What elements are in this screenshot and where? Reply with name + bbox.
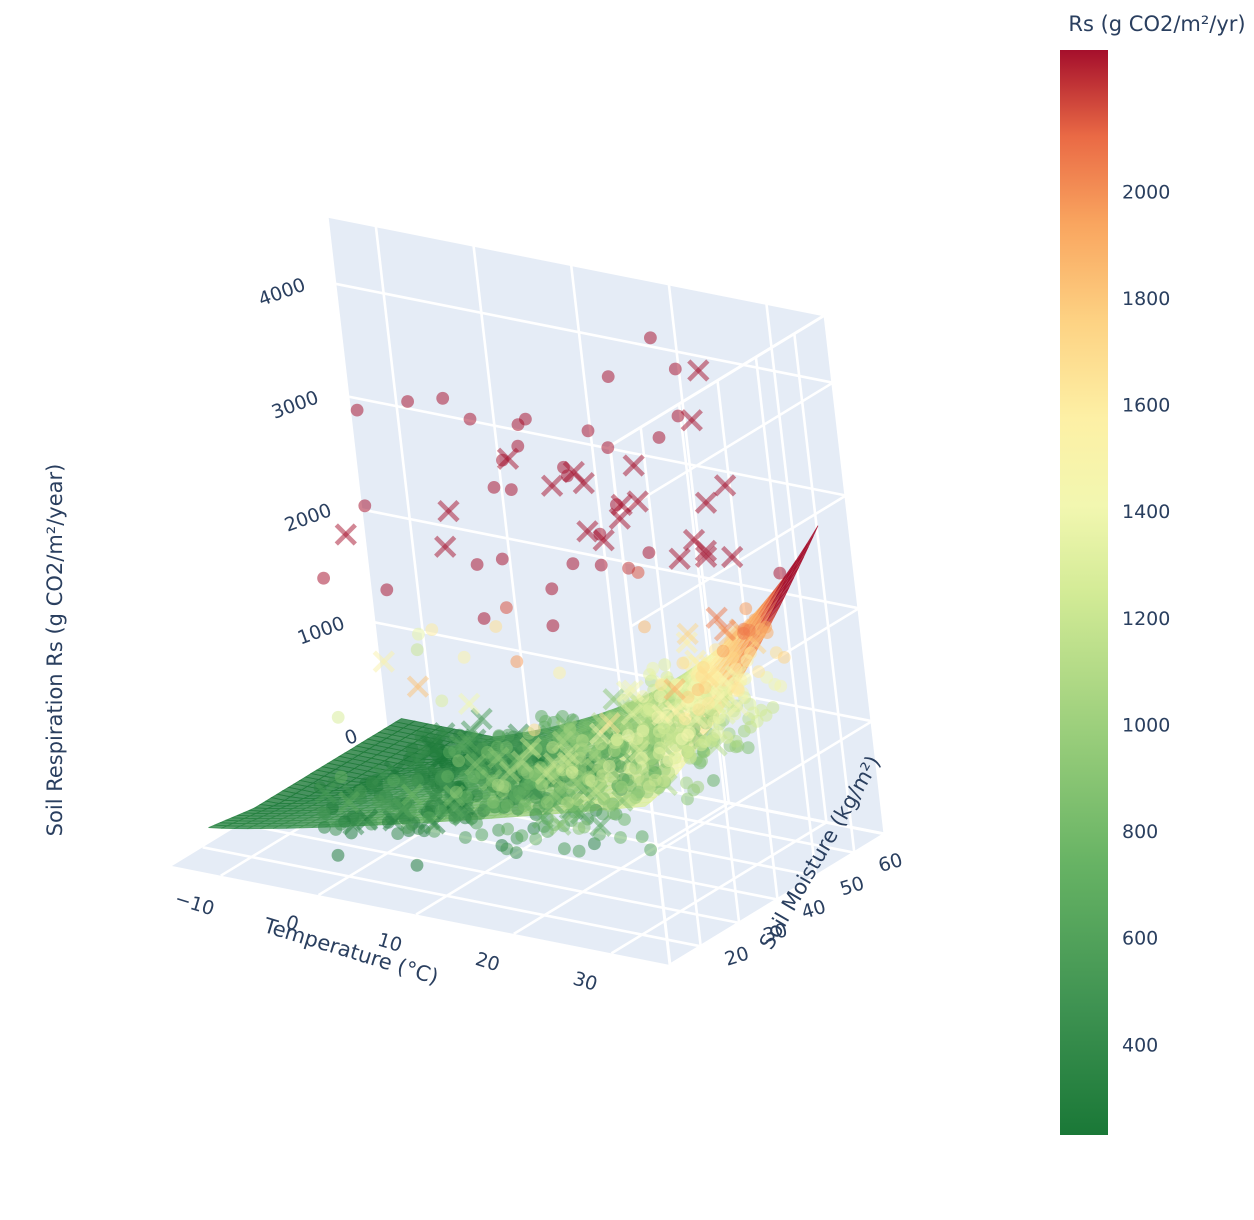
scatter-point-circle xyxy=(365,818,378,831)
scatter-point-circle xyxy=(681,729,694,742)
colorbar-tick-label: 1800 xyxy=(1122,288,1170,310)
scatter-point-circle xyxy=(751,715,764,728)
scatter-point-circle xyxy=(487,796,500,809)
colorbar-gradient[interactable] xyxy=(1060,50,1108,1135)
scatter-point-circle xyxy=(329,823,342,836)
scatter-point-circle xyxy=(547,619,560,632)
scatter-point-circle xyxy=(582,424,595,437)
scatter-point-circle xyxy=(695,755,708,768)
colorbar-title: Rs (g CO2/m²/yr) xyxy=(1068,12,1245,36)
colorbar-tick-label: 1600 xyxy=(1122,395,1170,417)
colorbar-tick-label: 1000 xyxy=(1122,715,1170,737)
scatter-point-circle xyxy=(558,842,571,855)
scatter-point-circle xyxy=(773,567,786,580)
scatter-point-circle xyxy=(658,658,671,671)
scatter-point-circle xyxy=(567,557,580,570)
scatter-point-circle xyxy=(478,612,491,625)
scatter-point-circle xyxy=(496,553,509,566)
scatter-point-circle xyxy=(425,623,438,636)
scatter-point-circle xyxy=(545,582,558,595)
scatter-point-circle xyxy=(778,651,791,664)
scatter-point-circle xyxy=(435,805,448,818)
scatter-point-circle xyxy=(500,601,513,614)
scatter-point-circle xyxy=(411,643,424,656)
scatter-point-circle xyxy=(681,793,694,806)
colorbar-tick-label: 2000 xyxy=(1122,181,1170,203)
scatter-point-circle xyxy=(573,822,586,835)
scatter-point-circle xyxy=(594,528,607,541)
scatter-point-circle xyxy=(489,620,502,633)
scatter-point-circle xyxy=(423,811,436,824)
scatter-point-circle xyxy=(691,781,704,794)
scatter-point-circle xyxy=(669,363,682,376)
scatter-point-circle xyxy=(611,733,624,746)
scatter-point-circle xyxy=(632,771,645,784)
scatter-point-circle xyxy=(411,859,424,872)
scatter-point-circle xyxy=(637,690,650,703)
scatter-point-circle xyxy=(732,684,745,697)
scatter-point-circle xyxy=(492,779,505,792)
scatter-point-circle xyxy=(467,770,480,783)
scatter-point-circle xyxy=(680,777,693,790)
scatter-point-circle xyxy=(332,711,345,724)
scatter-point-circle xyxy=(672,410,685,423)
scatter-point-circle xyxy=(692,683,705,696)
figure-root: −100102030203040506001000200030004000 Te… xyxy=(0,0,1254,1220)
scatter-point-circle xyxy=(412,822,425,835)
scatter-point-circle xyxy=(351,404,364,417)
colorbar-tick-label: 800 xyxy=(1122,821,1158,843)
scatter-point-circle xyxy=(679,712,692,725)
scatter-point-circle xyxy=(505,483,518,496)
scatter-point-circle xyxy=(644,331,657,344)
scatter-point-circle xyxy=(464,413,477,426)
scatter-point-circle xyxy=(381,799,394,812)
colorbar-tick-label: 1400 xyxy=(1122,501,1170,523)
scatter-point-circle xyxy=(404,804,417,817)
scatter-point-circle xyxy=(317,806,330,819)
scatter-point-circle xyxy=(615,781,628,794)
scatter-point-circle xyxy=(452,754,465,767)
scatter-point-circle xyxy=(652,711,665,724)
scatter-point-circle xyxy=(636,830,649,843)
scatter-point-circle xyxy=(358,499,371,512)
scatter-point-circle xyxy=(475,828,488,841)
scatter-point-circle xyxy=(553,667,566,680)
scatter-point-circle xyxy=(546,741,559,754)
scatter-point-circle xyxy=(561,797,574,810)
scatter-point-circle xyxy=(663,754,676,767)
scatter-point-circle xyxy=(515,829,528,842)
scatter-point-circle xyxy=(500,843,513,856)
scatter-point-circle xyxy=(459,831,472,844)
scatter-point-circle xyxy=(493,729,506,742)
scatter-point-circle xyxy=(730,663,743,676)
scatter-point-circle xyxy=(496,454,509,467)
scatter-point-circle xyxy=(501,823,514,836)
scatter-point-circle xyxy=(528,724,541,737)
scatter-point-circle xyxy=(387,774,400,787)
scatter-point-circle xyxy=(657,775,670,788)
plot-svg: −100102030203040506001000200030004000 Te… xyxy=(0,0,1254,1220)
scatter-point-circle xyxy=(707,774,720,787)
scatter-point-circle xyxy=(412,628,425,641)
scatter-point-circle xyxy=(713,711,726,724)
scatter-point-circle xyxy=(318,821,331,834)
scatter-point-circle xyxy=(693,703,706,716)
colorbar-tick-label: 1200 xyxy=(1122,608,1170,630)
scatter-point-circle xyxy=(471,558,484,571)
scatter-point-circle xyxy=(430,746,443,759)
scatter-point-circle xyxy=(317,572,330,585)
scatter-point-circle xyxy=(737,627,750,640)
scatter-point-circle xyxy=(458,651,471,664)
scatter-point-circle xyxy=(366,776,379,789)
scatter-point-circle xyxy=(583,801,596,814)
scatter-point-circle xyxy=(739,602,752,615)
scatter-point-circle xyxy=(681,745,694,758)
scatter-point-circle xyxy=(601,441,614,454)
scatter-point-circle xyxy=(501,799,514,812)
scatter-point-circle xyxy=(774,680,787,693)
scatter-point-circle xyxy=(761,626,774,639)
scatter-point-circle xyxy=(519,413,532,426)
scatter-point-circle xyxy=(643,546,656,559)
scatter-point-circle xyxy=(335,771,348,784)
scatter-point-circle xyxy=(695,739,708,752)
scatter-point-circle xyxy=(539,715,552,728)
scatter-point-circle xyxy=(566,766,579,779)
scatter-point-circle xyxy=(573,845,586,858)
scatter-point-circle xyxy=(602,370,615,383)
z-axis-title: Soil Respiration Rs (g CO2/m²/year) xyxy=(43,464,67,837)
scatter-point-circle xyxy=(752,665,765,678)
scatter-point-circle xyxy=(332,849,345,862)
scatter-point-circle xyxy=(428,825,441,838)
scatter-point-circle xyxy=(436,392,449,405)
scatter-point-circle xyxy=(614,831,627,844)
colorbar-tick-label: 600 xyxy=(1122,928,1158,950)
scatter-point-circle xyxy=(435,695,448,708)
scatter-point-circle xyxy=(624,794,637,807)
scatter-point-circle xyxy=(677,657,690,670)
scatter-point-circle xyxy=(618,813,631,826)
scatter-point-circle xyxy=(518,799,531,812)
scatter-point-circle xyxy=(561,469,574,482)
scatter-point-circle xyxy=(450,786,463,799)
scatter-point-circle xyxy=(401,821,414,834)
scatter-point-circle xyxy=(644,843,657,856)
scatter-point-circle xyxy=(401,395,414,408)
scatter-point-circle xyxy=(510,655,523,668)
scatter-point-circle xyxy=(593,828,606,841)
scatter-point-circle xyxy=(488,481,501,494)
scatter-point-circle xyxy=(541,796,554,809)
scatter-point-circle xyxy=(441,770,454,783)
scatter-point-circle xyxy=(721,731,734,744)
scatter-point-circle xyxy=(638,620,651,633)
scatter-point-circle xyxy=(350,813,363,826)
scatter-point-circle xyxy=(470,817,483,830)
scatter-point-circle xyxy=(380,583,393,596)
scatter-point-circle xyxy=(622,562,635,575)
scatter-point-circle xyxy=(529,833,542,846)
colorbar-tick-label: 400 xyxy=(1122,1034,1158,1056)
scatter-point-circle xyxy=(643,780,656,793)
scatter-point-circle xyxy=(653,431,666,444)
scatter-point-circle xyxy=(595,559,608,572)
scatter-point-circle xyxy=(717,645,730,658)
scatter-point-circle xyxy=(603,760,616,773)
scatter-point-circle xyxy=(635,752,648,765)
